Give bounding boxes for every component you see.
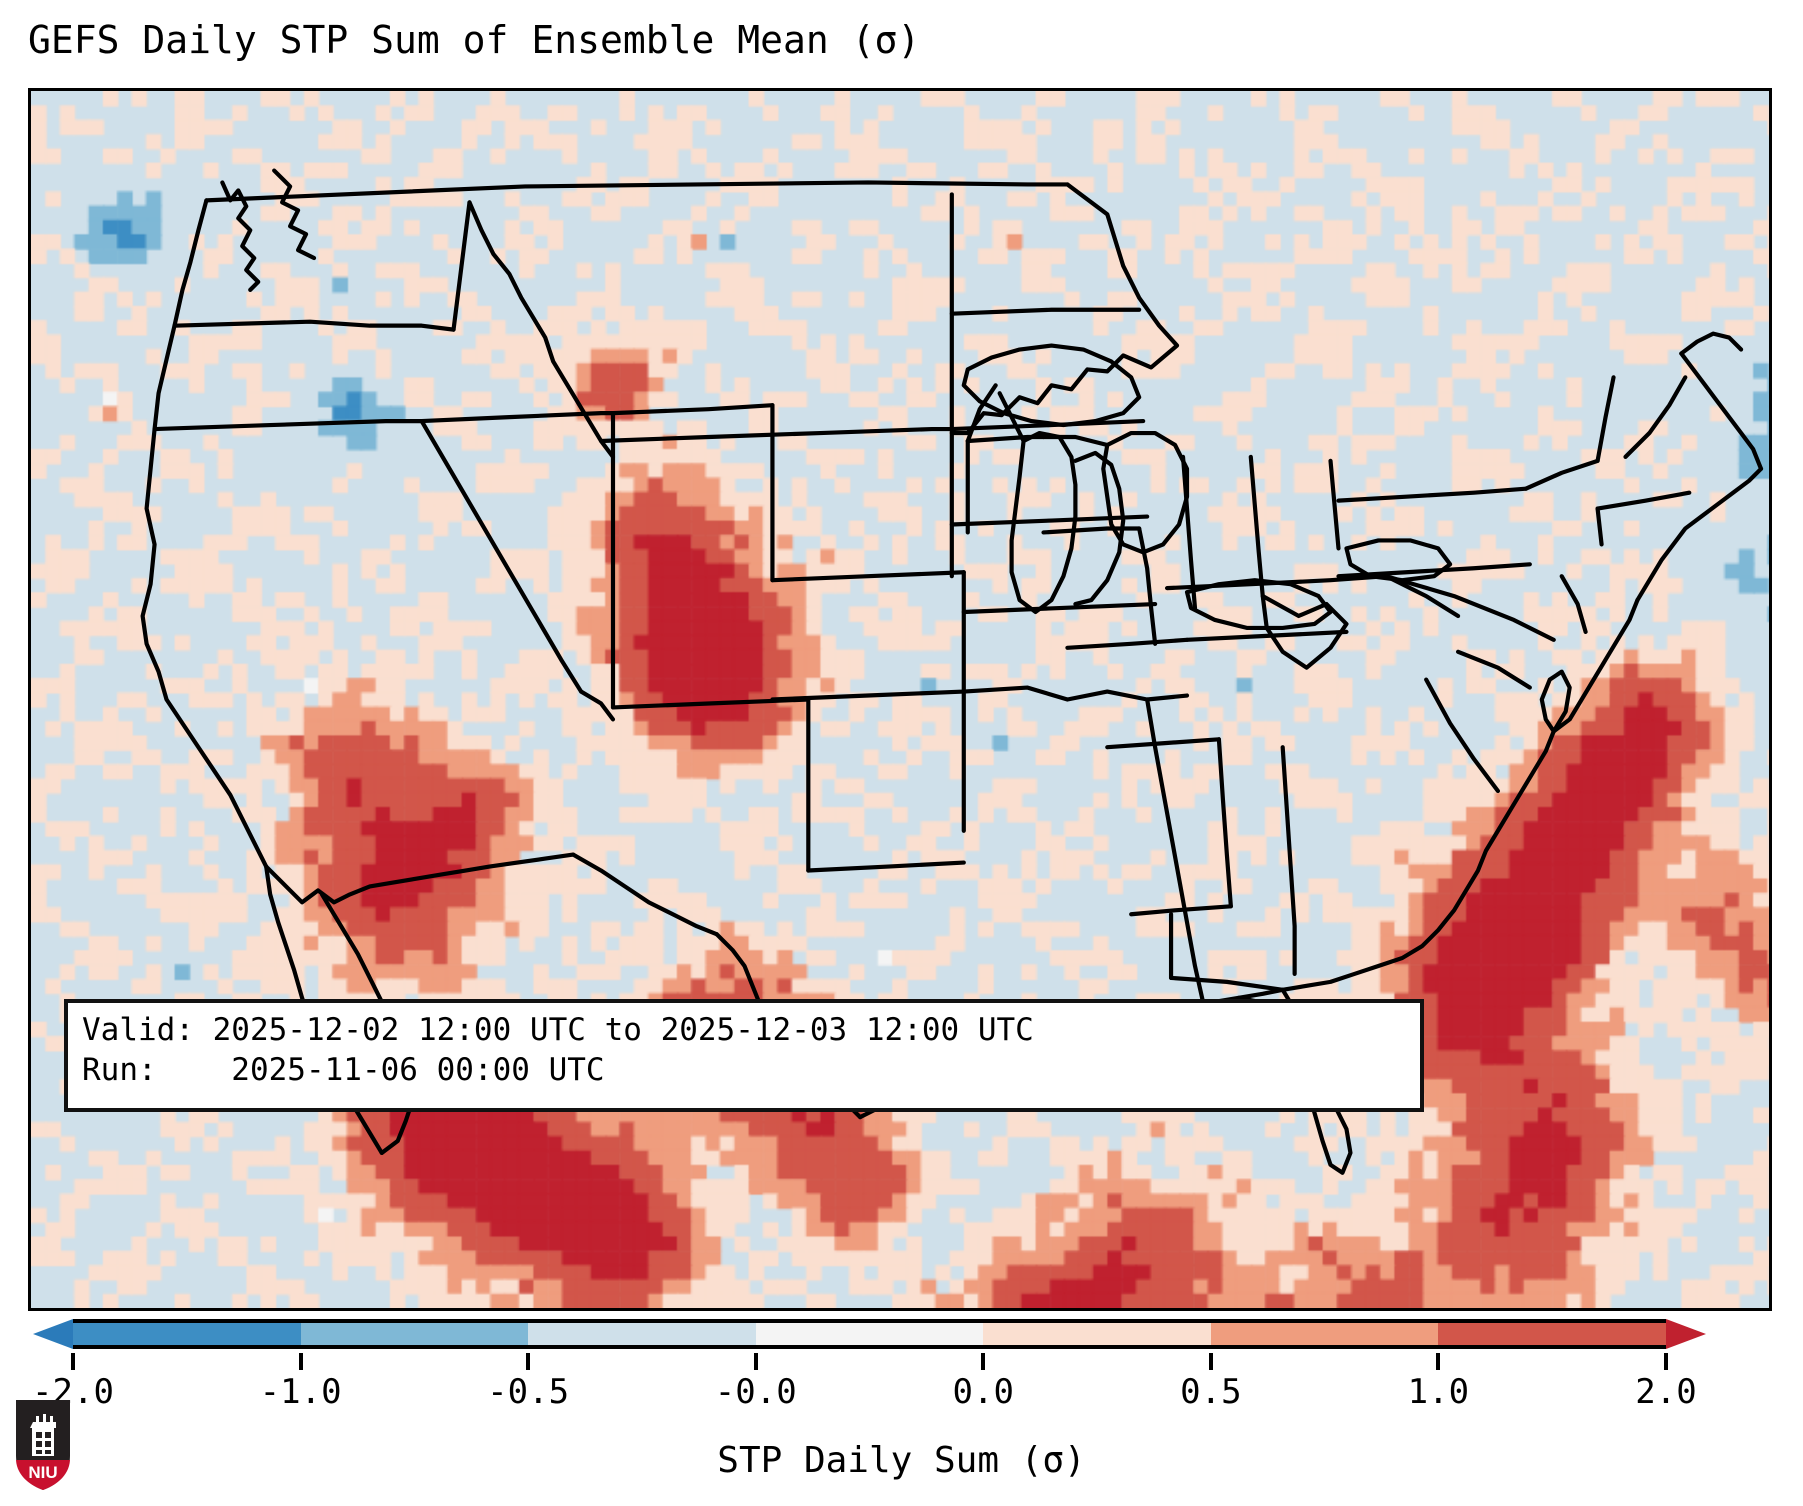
colorbar-tick-1	[299, 1353, 303, 1370]
map-border-path-50	[1044, 528, 1140, 532]
run-time-text: Run: 2025-11-06 00:00 UTC	[82, 1050, 1406, 1090]
colorbar-tick-label-4: 0.0	[953, 1372, 1014, 1412]
map-border-path-72	[1625, 377, 1685, 457]
map-border-path-81	[1147, 700, 1203, 1002]
colorbar-tick-3	[754, 1353, 758, 1370]
map-border-path-6	[573, 855, 717, 935]
colorbar-segment-5	[1211, 1323, 1439, 1345]
map-border-path-60	[1171, 978, 1283, 990]
colorbar-segment-6	[1438, 1323, 1666, 1345]
map-border-path-47	[964, 604, 1155, 612]
map-border-path-36	[772, 572, 963, 580]
map-border-path-54	[1283, 747, 1295, 974]
niu-shield-icon: NIU	[14, 1398, 72, 1492]
map-border-path-59	[1426, 680, 1498, 791]
colorbar-segment-0	[73, 1323, 301, 1345]
map-border-path-75	[1562, 576, 1586, 632]
colorbar-segment-3	[756, 1323, 984, 1345]
page-title: GEFS Daily STP Sum of Ensemble Mean (σ)	[28, 18, 1778, 62]
colorbar-segment-2	[528, 1323, 756, 1345]
map-border-path-51	[1067, 640, 1187, 648]
colorbar-label: STP Daily Sum (σ)	[0, 1440, 1803, 1481]
colorbar: -2.0-1.0-0.5-0.00.00.51.02.0	[0, 1312, 1803, 1422]
map-border-path-65	[1331, 461, 1339, 548]
map-border-path-12	[1283, 731, 1554, 990]
colorbar-tick-2	[526, 1353, 530, 1370]
colorbar-tick-5	[1209, 1353, 1213, 1370]
map-border-path-62	[1139, 528, 1155, 643]
map-border-path-16	[1681, 353, 1761, 468]
map-border-path-17	[1681, 334, 1741, 354]
colorbar-tick-label-6: 1.0	[1408, 1372, 1469, 1412]
niu-logo: NIU	[14, 1398, 72, 1492]
colorbar-tick-label-2: -0.5	[487, 1372, 569, 1412]
map-border-path-34	[613, 405, 772, 413]
map-border-path-40	[808, 863, 963, 871]
map-border-path-58	[1458, 652, 1530, 688]
colorbar-tick-label-1: -1.0	[260, 1372, 342, 1412]
colorbar-tick-7	[1664, 1353, 1668, 1370]
niu-logo-text: NIU	[28, 1463, 57, 1482]
map-border-path-24	[175, 322, 454, 330]
map-plot-area: Valid: 2025-12-02 12:00 UTC to 2025-12-0…	[28, 88, 1772, 1311]
forecast-info-box: Valid: 2025-12-02 12:00 UTC to 2025-12-0…	[64, 999, 1424, 1112]
map-border-path-70	[1526, 461, 1598, 489]
colorbar-tick-4	[981, 1353, 985, 1370]
map-border-path-53	[1219, 739, 1231, 906]
map-border-path-5	[266, 855, 573, 903]
map-border-path-55	[1187, 632, 1346, 640]
colorbar-tick-label-7: 2.0	[1635, 1372, 1696, 1412]
colorbar-segment-1	[301, 1323, 529, 1345]
map-border-path-49	[968, 437, 1044, 441]
colorbar-under-arrow	[33, 1319, 73, 1349]
map-border-path-4	[274, 171, 314, 258]
map-border-path-2	[143, 200, 267, 866]
map-border-path-69	[1386, 576, 1553, 640]
map-border-path-66	[1338, 489, 1525, 501]
map-border-path-46	[952, 517, 1147, 525]
map-boundaries-layer	[31, 91, 1769, 1308]
map-border-path-41	[601, 429, 952, 441]
map-border-path-48	[964, 688, 1187, 700]
map-border-path-71	[1598, 377, 1614, 461]
map-border-path-73	[1598, 493, 1690, 509]
colorbar-tick-6	[1436, 1353, 1440, 1370]
map-border-path-30	[581, 692, 613, 720]
map-border-path-29	[422, 421, 581, 691]
colorbar-segment-4	[983, 1323, 1211, 1345]
map-border-path-37	[772, 692, 963, 700]
map-border-path-15	[1637, 469, 1761, 600]
colorbar-tick-0	[71, 1353, 75, 1370]
colorbar-gradient	[73, 1319, 1666, 1349]
map-border-path-44	[952, 310, 1139, 314]
colorbar-tick-label-3: -0.0	[715, 1372, 797, 1412]
colorbar-over-arrow	[1666, 1319, 1706, 1349]
map-border-path-26	[155, 421, 422, 429]
map-border-path-64	[1251, 457, 1263, 596]
colorbar-tick-label-5: 0.5	[1180, 1372, 1241, 1412]
map-border-path-25	[454, 202, 470, 329]
map-border-path-56	[1167, 576, 1386, 588]
map-border-path-0	[206, 182, 1067, 200]
map-border-path-74	[1598, 509, 1602, 545]
map-border-path-80	[1131, 906, 1231, 914]
map-border-path-20	[1103, 433, 1187, 552]
map-border-path-77	[1044, 437, 1108, 445]
map-border-path-52	[1107, 739, 1219, 747]
valid-time-text: Valid: 2025-12-02 12:00 UTC to 2025-12-0…	[82, 1010, 1406, 1050]
